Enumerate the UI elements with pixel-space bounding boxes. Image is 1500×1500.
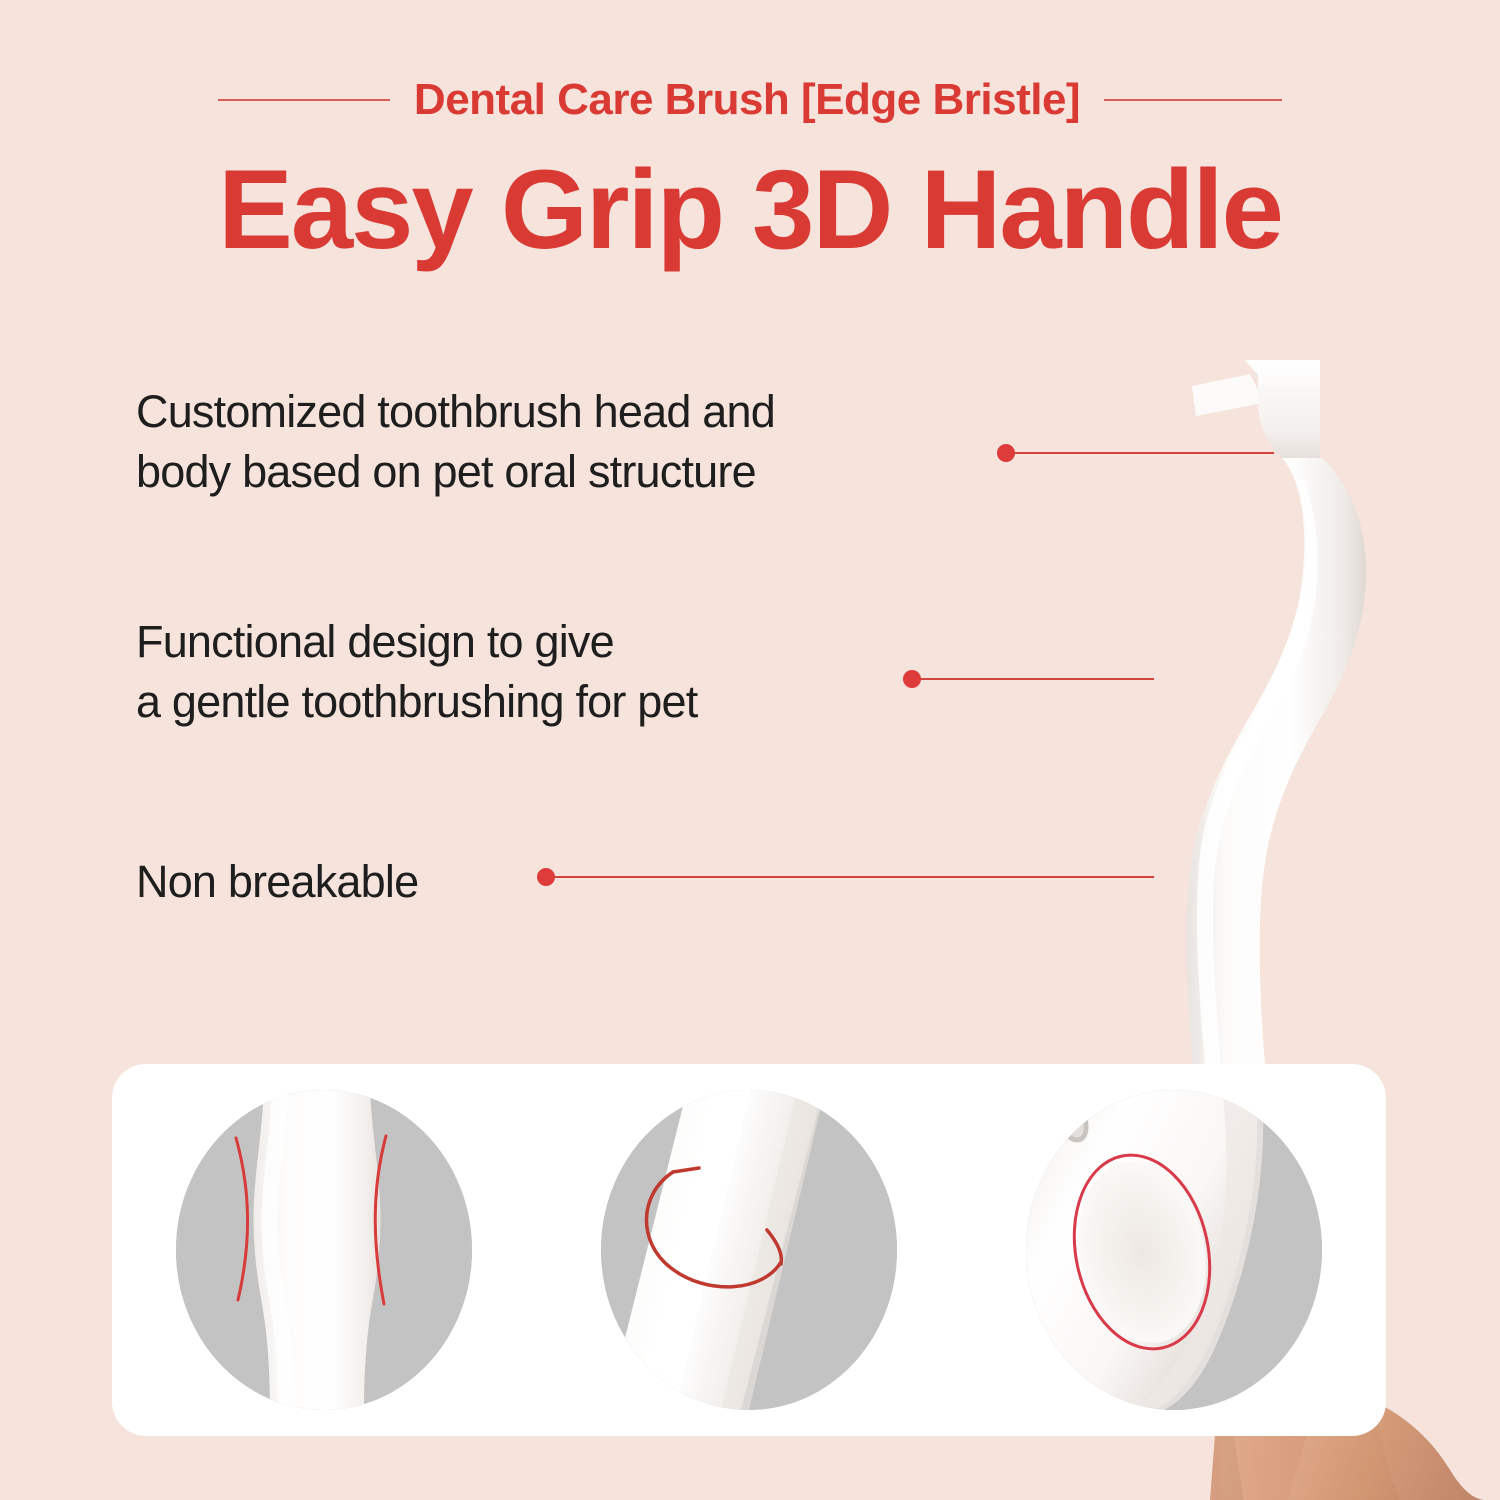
detail-circle-rotation-grip[interactable] <box>601 1090 897 1410</box>
rule-left-decoration <box>218 99 390 101</box>
detail-circle-contoured-grip[interactable] <box>176 1090 472 1410</box>
rotation-grip-photo <box>601 1090 897 1410</box>
contoured-grip-photo <box>176 1090 472 1410</box>
eyebrow-row: Dental Care Brush [Edge Bristle] <box>0 72 1500 128</box>
rule-right-decoration <box>1104 99 1282 101</box>
thumb-rest-photo <box>1026 1090 1322 1410</box>
feature-text-non-breakable: Non breakable <box>136 852 418 912</box>
page-title: Easy Grip 3D Handle <box>0 148 1500 271</box>
feature-text-head-body: Customized toothbrush head and body base… <box>136 382 775 502</box>
infographic-root: Dental Care Brush [Edge Bristle] Easy Gr… <box>0 0 1500 1500</box>
feature-text-functional-design: Functional design to give a gentle tooth… <box>136 612 697 732</box>
detail-circle-thumb-rest[interactable] <box>1026 1090 1322 1410</box>
brush-head-block <box>1258 360 1320 464</box>
eyebrow-label: Dental Care Brush [Edge Bristle] <box>414 78 1080 122</box>
detail-panel <box>112 1064 1386 1436</box>
